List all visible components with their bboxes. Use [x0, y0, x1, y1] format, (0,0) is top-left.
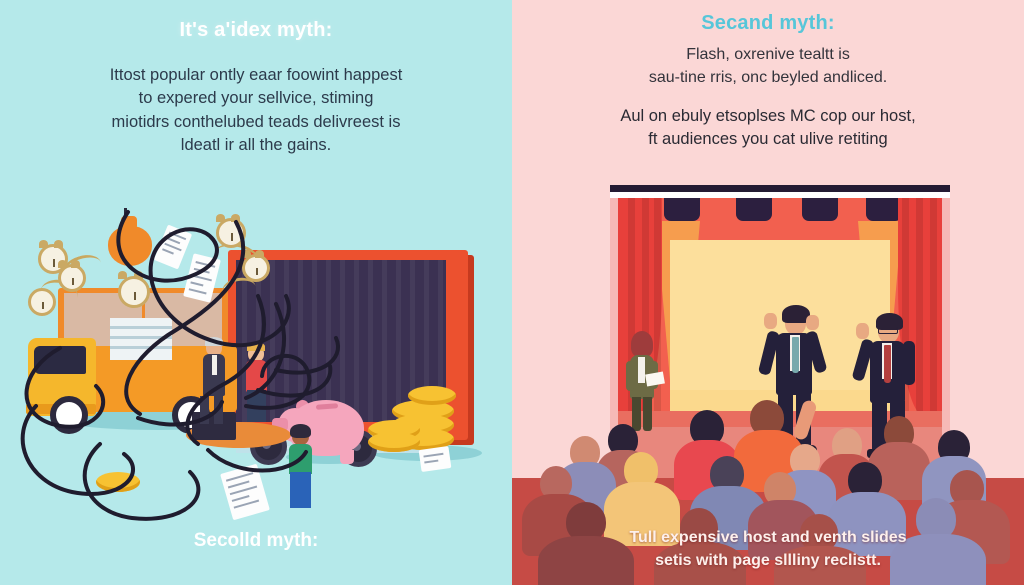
- stage-light: [664, 198, 700, 221]
- left-panel-bottom-title: Secolld myth:: [0, 530, 512, 552]
- right-panel-body-second: Aul on ebuly etsoplses MC cop our host, …: [512, 105, 1024, 152]
- right-panel-bottom-text: Tull expensive host and venth slides set…: [512, 526, 1024, 572]
- stage-light: [866, 198, 902, 221]
- right-panel-body-first: Flash, oxrenive tealtt is sau-tine rris,…: [512, 44, 1024, 89]
- left-panel: It's a'idex myth: Ittost popular ontly e…: [0, 0, 512, 585]
- left-panel-title: It's a'idex myth:: [0, 19, 512, 42]
- left-panel-body: Ittost popular ontly eaar foowint happes…: [0, 64, 512, 158]
- right-panel-title: Secand myth:: [512, 12, 1024, 35]
- poster-canvas: It's a'idex myth: Ittost popular ontly e…: [0, 0, 1024, 585]
- stage-light: [736, 198, 772, 221]
- right-panel: Secand myth: Flash, oxrenive tealtt is s…: [512, 0, 1024, 585]
- stage-top-rail: [610, 185, 950, 192]
- stage-light: [802, 198, 838, 221]
- logistics-chaos-illustration: [0, 200, 512, 530]
- tangled-cables: [0, 200, 512, 530]
